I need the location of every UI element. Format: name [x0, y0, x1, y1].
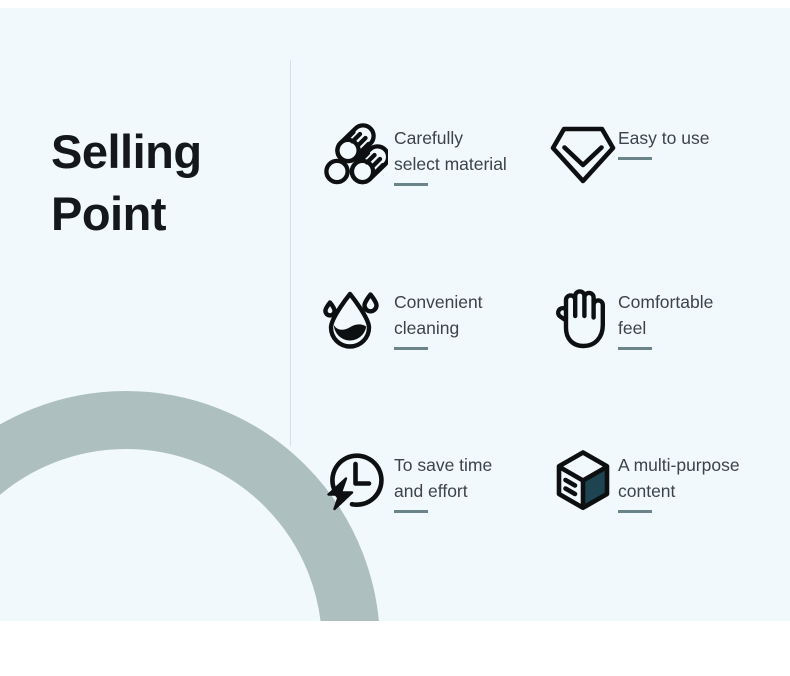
content-panel: Selling Point [0, 8, 790, 621]
feature-text: To save time and effort [394, 447, 492, 513]
feature-label-line-1: A multi-purpose [618, 453, 740, 479]
feature-comfortable-feel: Comfortable feel [550, 284, 713, 352]
feature-label-line-1: To save time [394, 453, 492, 479]
feature-underline [394, 510, 428, 513]
page-title: Selling Point [51, 121, 281, 245]
clock-bolt-icon [322, 447, 388, 515]
feature-text: Easy to use [618, 120, 709, 160]
cube-box-icon [550, 447, 616, 515]
feature-underline [618, 510, 652, 513]
page-title-line-2: Point [51, 183, 281, 245]
feature-convenient-cleaning: Convenient cleaning [322, 284, 483, 352]
open-hand-icon [550, 284, 616, 352]
feature-underline [618, 157, 652, 160]
feature-label-line-2: cleaning [394, 316, 483, 342]
feature-label-line-1: Comfortable [618, 290, 713, 316]
feature-multi-purpose-content: A multi-purpose content [550, 447, 740, 515]
feature-to-save-time-and-effort: To save time and effort [322, 447, 492, 515]
feature-label-line-2: and effort [394, 479, 492, 505]
feature-label-line-2: content [618, 479, 740, 505]
diamond-gem-icon [550, 120, 616, 188]
selling-point-infographic: Selling Point [0, 0, 790, 676]
feature-text: Carefully select material [394, 120, 507, 186]
feature-underline [618, 347, 652, 350]
feature-label-line-1: Easy to use [618, 126, 709, 152]
feature-text: Comfortable feel [618, 284, 713, 350]
feature-underline [394, 183, 428, 186]
feature-grid: Carefully select material Easy to [322, 120, 790, 540]
feature-text: Convenient cleaning [394, 284, 483, 350]
page-title-line-1: Selling [51, 121, 281, 183]
feature-label-line-1: Carefully [394, 126, 507, 152]
feature-carefully-select-material: Carefully select material [322, 120, 507, 188]
vertical-divider [290, 60, 291, 446]
feature-easy-to-use: Easy to use [550, 120, 709, 188]
stacked-logs-icon [322, 120, 388, 188]
feature-label-line-1: Convenient [394, 290, 483, 316]
water-droplet-icon [322, 284, 388, 352]
feature-label-line-2: select material [394, 152, 507, 178]
feature-text: A multi-purpose content [618, 447, 740, 513]
feature-label-line-2: feel [618, 316, 713, 342]
feature-underline [394, 347, 428, 350]
